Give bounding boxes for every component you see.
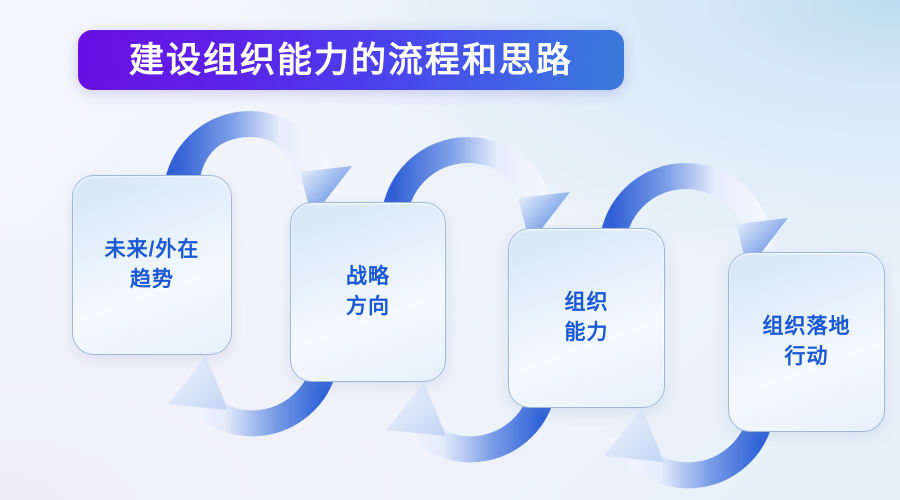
page-title-banner: 建设组织能力的流程和思路 [78,30,624,90]
arrowhead [604,408,664,462]
flow-step-label: 未来/外在 趋势 [105,235,200,295]
arrowhead [168,356,228,410]
arrowhead [386,382,446,436]
slide-canvas: 建设组织能力的流程和思路 未来/外在 趋势 战略 方向 组织 能力 组织落地 行… [0,0,900,500]
flow-step-future-external-trends[interactable]: 未来/外在 趋势 [72,175,232,355]
flow-step-organizational-capability[interactable]: 组织 能力 [508,228,665,408]
flow-step-label: 组织 能力 [565,288,609,348]
flow-step-label: 组织落地 行动 [763,312,851,372]
flow-step-strategic-direction[interactable]: 战略 方向 [290,202,446,382]
flow-step-label: 战略 方向 [346,262,390,322]
flow-step-organizational-execution[interactable]: 组织落地 行动 [728,252,885,432]
page-title: 建设组织能力的流程和思路 [129,43,573,78]
